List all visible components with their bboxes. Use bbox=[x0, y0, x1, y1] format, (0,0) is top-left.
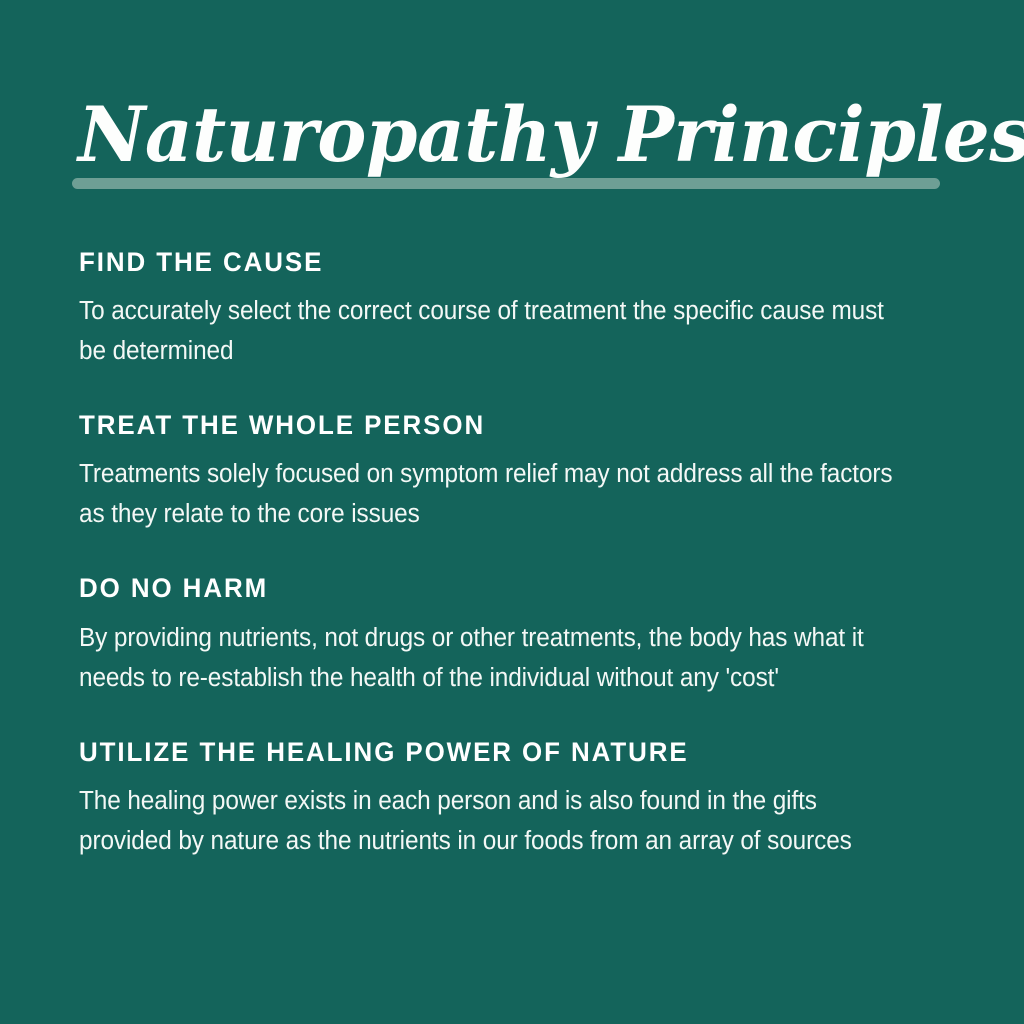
title-divider bbox=[72, 178, 940, 189]
poster-canvas: Naturopathy Principles FIND THE CAUSE To… bbox=[0, 0, 1024, 1024]
principle-body: Treatments solely focused on symptom rel… bbox=[79, 454, 912, 534]
principle-heading: DO NO HARM bbox=[79, 573, 924, 603]
principle-item: DO NO HARM By providing nutrients, not d… bbox=[79, 573, 959, 697]
principles-list: FIND THE CAUSE To accurately select the … bbox=[79, 247, 959, 861]
principle-heading: FIND THE CAUSE bbox=[79, 247, 924, 277]
principle-item: FIND THE CAUSE To accurately select the … bbox=[79, 247, 959, 371]
page-title: Naturopathy Principles bbox=[78, 97, 932, 173]
principle-body: By providing nutrients, not drugs or oth… bbox=[79, 618, 912, 698]
principle-heading: UTILIZE THE HEALING POWER OF NATURE bbox=[79, 737, 924, 767]
principle-body: The healing power exists in each person … bbox=[79, 781, 912, 861]
principle-body: To accurately select the correct course … bbox=[79, 291, 912, 371]
principle-item: UTILIZE THE HEALING POWER OF NATURE The … bbox=[79, 737, 959, 861]
principle-heading: TREAT THE WHOLE PERSON bbox=[79, 410, 924, 440]
principle-item: TREAT THE WHOLE PERSON Treatments solely… bbox=[79, 410, 959, 534]
